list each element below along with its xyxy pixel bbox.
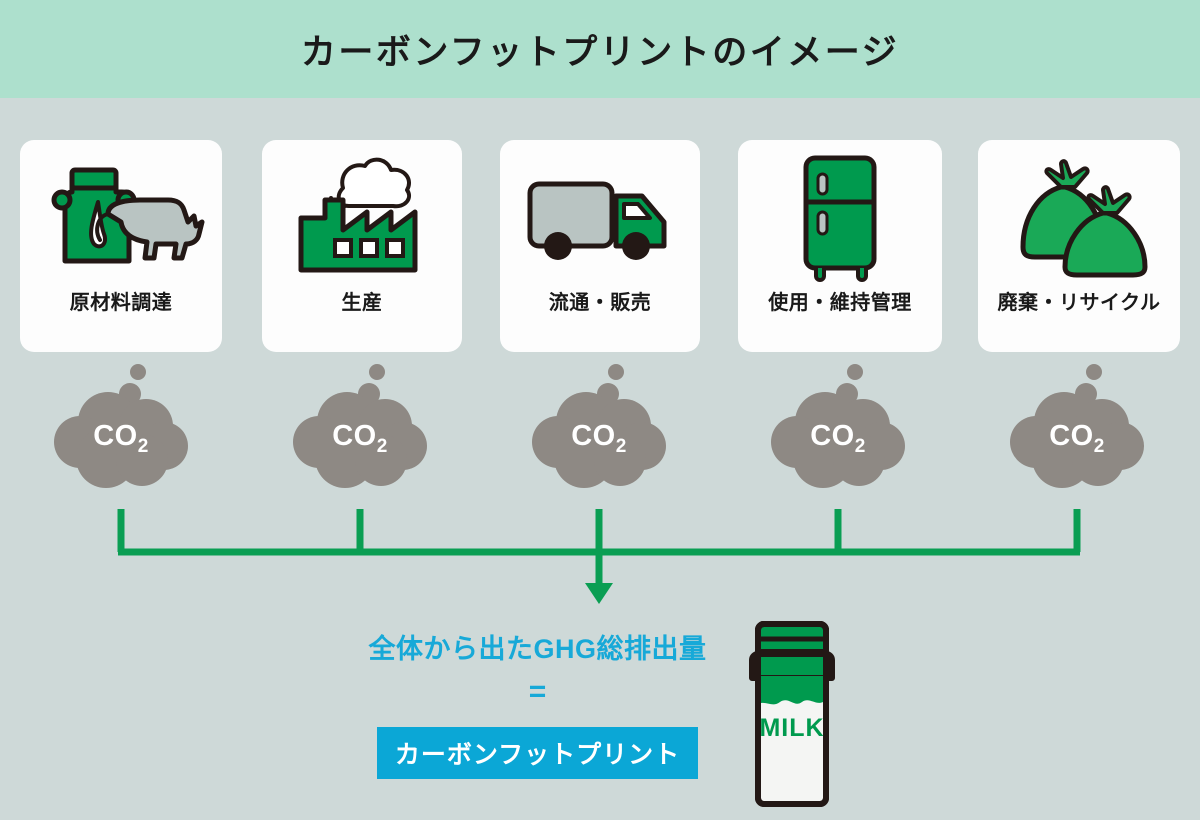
co2-label: CO2: [1002, 420, 1152, 458]
co2-cloud-row: CO2 CO2: [0, 360, 1200, 510]
down-arrow-icon: [585, 583, 613, 604]
stage-card-row: 原材料調達 生産: [0, 140, 1200, 352]
co2-cloud-disposal-recycle: CO2: [1002, 360, 1152, 505]
co2-cloud-production: CO2: [285, 360, 435, 505]
carbon-footprint-badge: カーボンフットプリント: [377, 727, 698, 779]
factory-icon: [262, 140, 462, 290]
stage-card-use-maintenance[interactable]: 使用・維持管理: [738, 140, 942, 352]
stage-card-raw-material[interactable]: 原材料調達: [20, 140, 222, 352]
co2-label: CO2: [46, 420, 196, 458]
stage-card-label: 流通・販売: [549, 286, 652, 315]
equals-sign: =: [0, 672, 1075, 712]
milk-can-and-cow-icon: [20, 140, 222, 290]
milk-carton-icon: MILK: [742, 612, 842, 810]
milk-carton-text: MILK: [759, 714, 824, 742]
co2-label: CO2: [524, 420, 674, 458]
co2-label: CO2: [763, 420, 913, 458]
stage-card-label: 廃棄・リサイクル: [998, 286, 1161, 315]
infographic-page: カーボンフットプリントのイメージ 原材料調達: [0, 0, 1200, 820]
carbon-footprint-label: カーボンフットプリント: [395, 735, 680, 771]
stage-card-label: 使用・維持管理: [768, 286, 912, 315]
stage-card-production[interactable]: 生産: [262, 140, 462, 352]
co2-label: CO2: [285, 420, 435, 458]
co2-cloud-distribution: CO2: [524, 360, 674, 505]
stage-card-disposal-recycle[interactable]: 廃棄・リサイクル: [978, 140, 1180, 352]
stage-card-label: 原材料調達: [70, 286, 173, 315]
stage-card-distribution[interactable]: 流通・販売: [500, 140, 700, 352]
aggregation-connector: [0, 505, 1200, 605]
co2-cloud-use-maintenance: CO2: [763, 360, 913, 505]
co2-cloud-raw-material: CO2: [46, 360, 196, 505]
delivery-truck-icon: [500, 140, 700, 290]
page-title: カーボンフットプリントのイメージ: [301, 24, 899, 75]
garbage-bags-icon: [978, 140, 1180, 290]
refrigerator-icon: [738, 140, 942, 290]
header-band: カーボンフットプリントのイメージ: [0, 0, 1200, 98]
ghg-total-text: 全体から出たGHG総排出量: [0, 627, 1075, 666]
stage-card-label: 生産: [342, 286, 383, 315]
